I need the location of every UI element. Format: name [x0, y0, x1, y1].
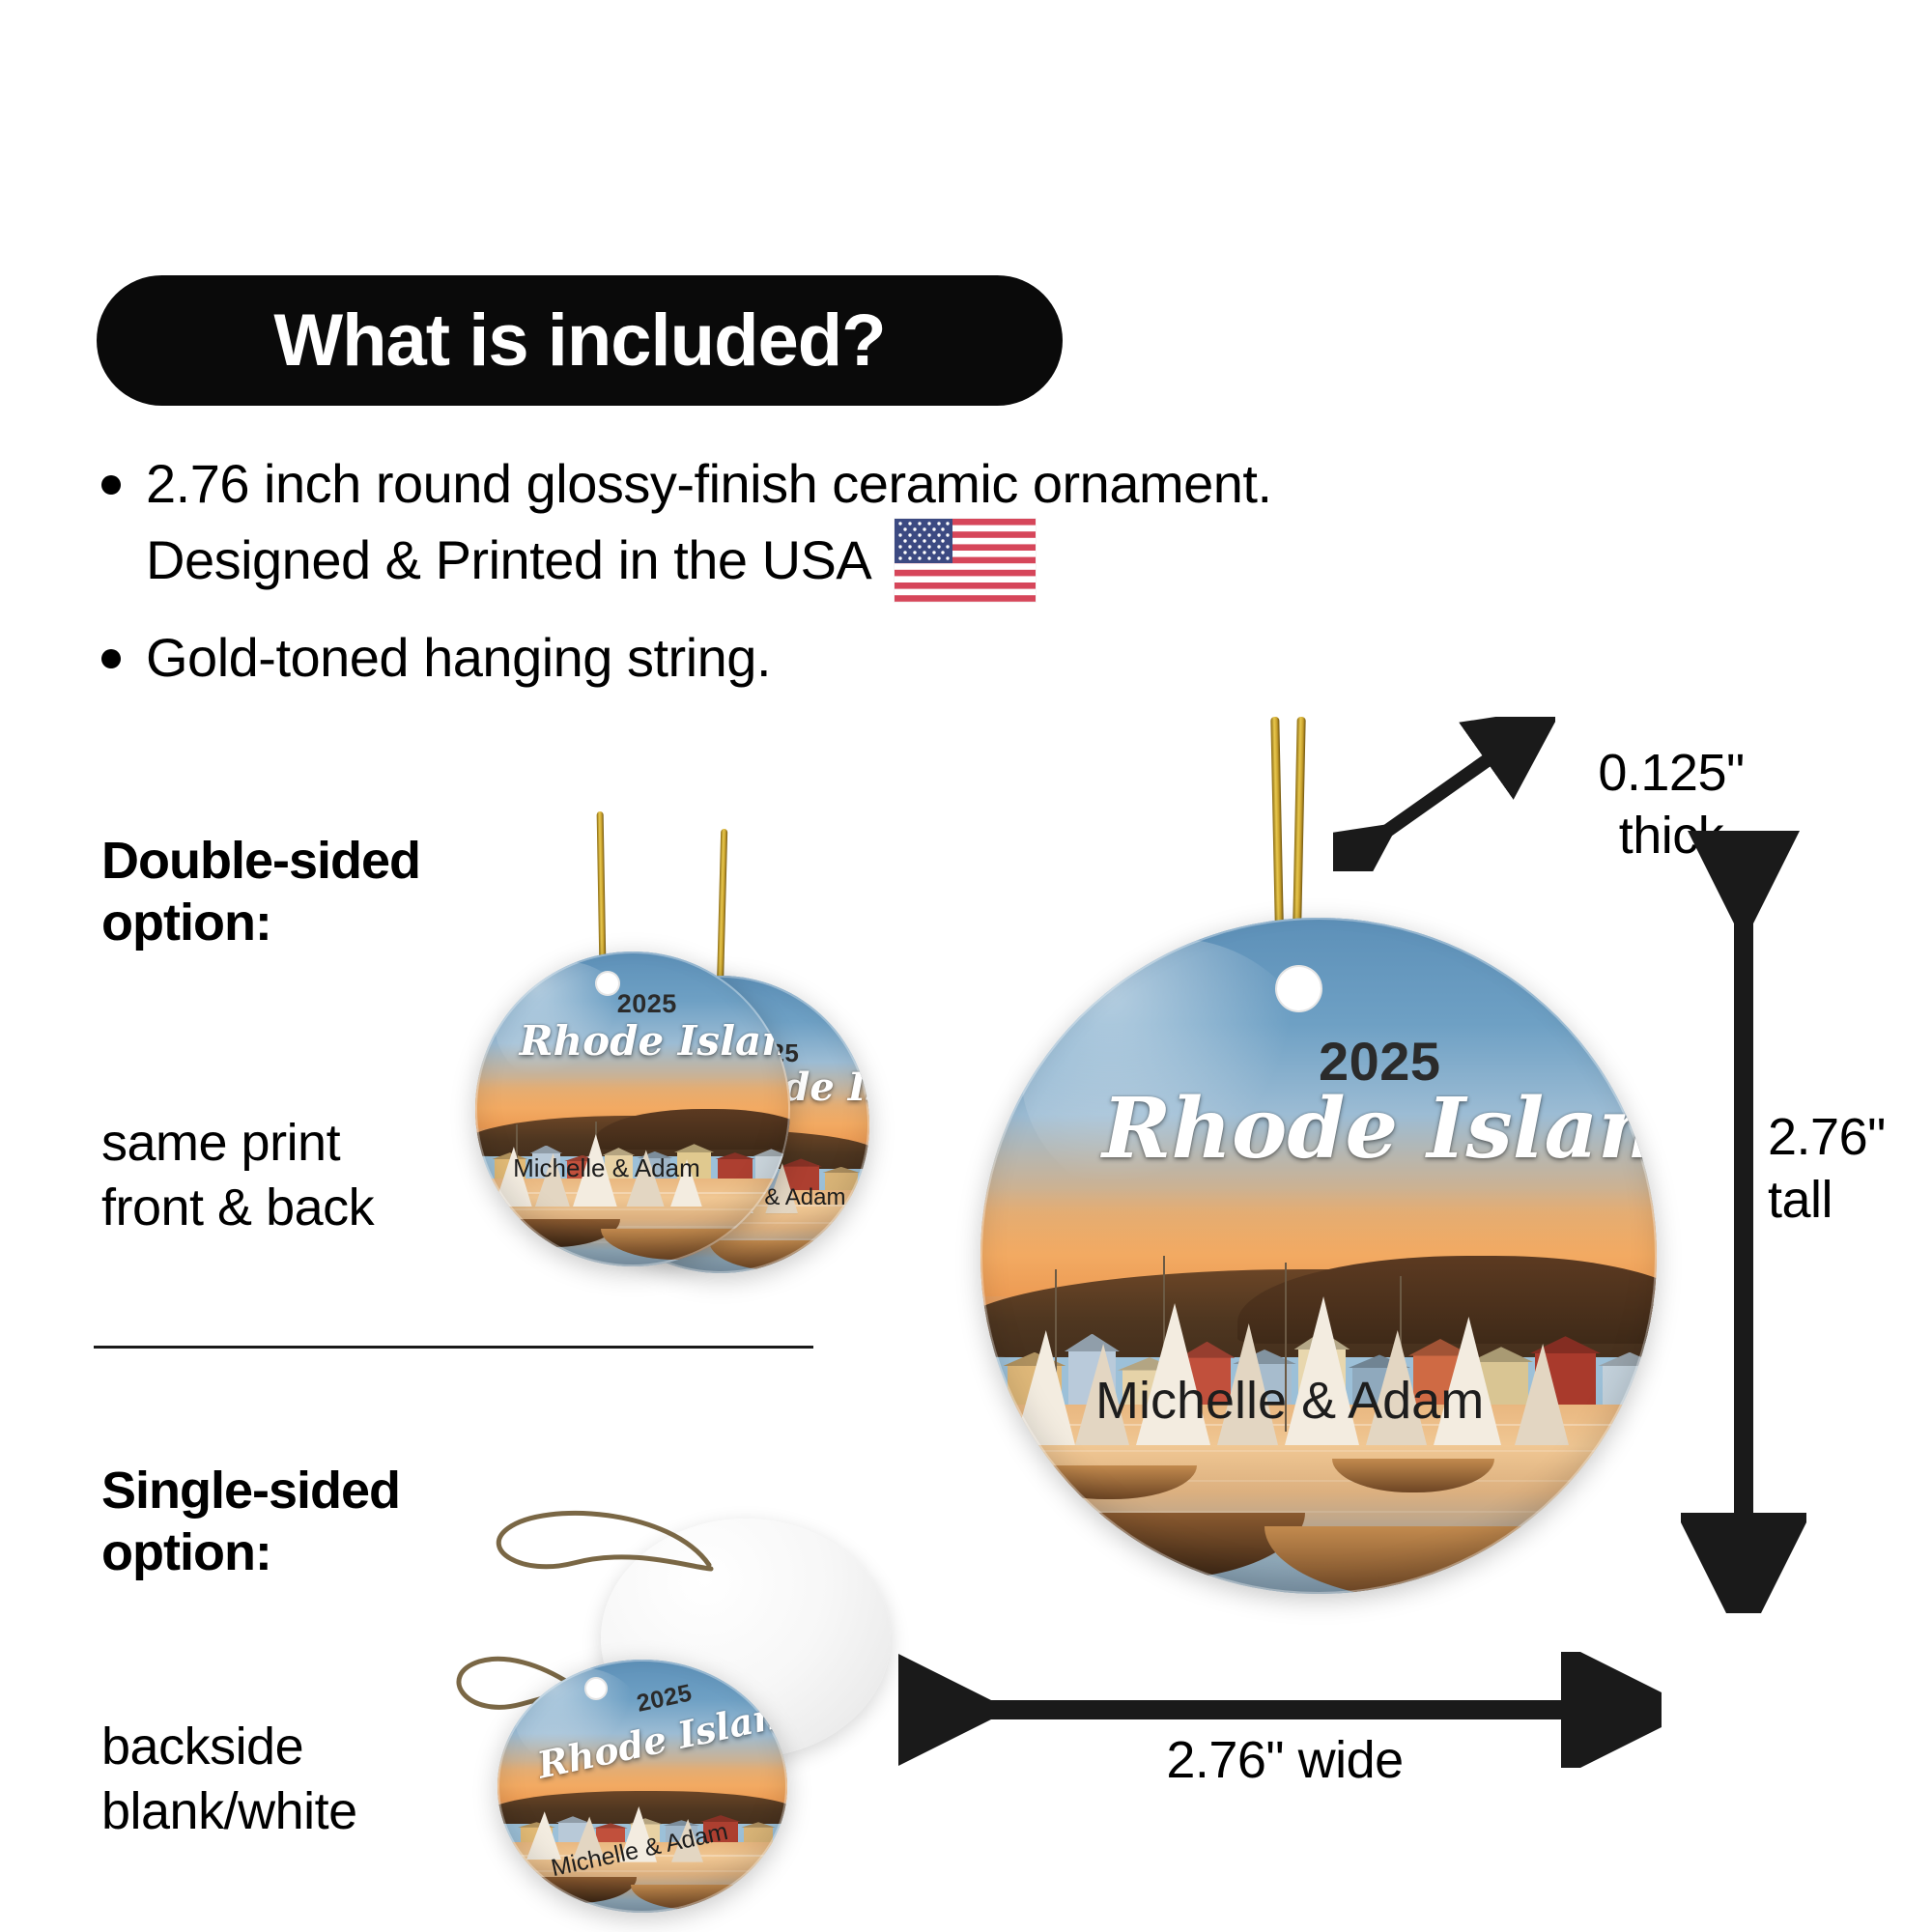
ornament-state: Rhode Island — [520, 1017, 790, 1065]
flag-svg — [895, 519, 1036, 602]
bullet-dot-icon — [101, 649, 121, 668]
hanging-hole — [584, 1677, 608, 1700]
bullet-line-1: 2.76 inch round glossy-finish ceramic or… — [146, 449, 1272, 519]
ornament-single-front: 2025 Rhode Island Michelle & Adam — [497, 1660, 787, 1913]
double-sided-heading: Double-sided option: — [101, 831, 604, 953]
ornament-names: Michelle & Adam — [513, 1153, 700, 1183]
bullet-text: 2.76 inch round glossy-finish ceramic or… — [146, 449, 1272, 602]
ornament-main: 2025 Rhode Island Michelle & Adam — [980, 918, 1657, 1594]
usa-flag-icon — [895, 519, 1036, 602]
hanging-hole — [1275, 965, 1322, 1012]
list-item: 2.76 inch round glossy-finish ceramic or… — [101, 449, 1802, 602]
bullet-text: Gold-toned hanging string. — [146, 623, 771, 693]
double-sided-heading-line1: Double-sided — [101, 831, 604, 893]
hanging-string-front — [597, 811, 607, 966]
thickness-label-line1: 0.125" — [1546, 742, 1797, 805]
included-bullet-list: 2.76 inch round glossy-finish ceramic or… — [101, 449, 1802, 699]
page-title: What is included? — [273, 304, 885, 378]
double-sided-note: same print front & back — [101, 1111, 517, 1240]
double-sided-note-line2: front & back — [101, 1176, 517, 1240]
ornament-state: Rhode Island — [1102, 1080, 1657, 1178]
ornament-names: Michelle & Adam — [1095, 1371, 1484, 1431]
double-sided-note-line1: same print — [101, 1111, 517, 1176]
section-divider — [94, 1346, 813, 1349]
thickness-arrow-icon — [1333, 717, 1555, 871]
double-sided-heading-line2: option: — [101, 893, 604, 954]
bullet-line-1: Gold-toned hanging string. — [146, 623, 771, 693]
height-label: 2.76" tall — [1768, 1106, 1932, 1232]
list-item: Gold-toned hanging string. — [101, 623, 1802, 693]
height-label-line1: 2.76" — [1768, 1106, 1932, 1169]
bullet-dot-icon — [101, 475, 121, 495]
flag-stripes — [895, 519, 1036, 602]
harbor-scene — [980, 918, 1657, 1594]
height-label-line2: tall — [1768, 1169, 1932, 1232]
ornament-year: 2025 — [617, 989, 677, 1019]
header-pill: What is included? — [97, 275, 1063, 406]
width-label: 2.76" wide — [985, 1729, 1584, 1792]
infographic-canvas: What is included? 2.76 inch round glossy… — [0, 0, 1932, 1932]
bullet-line-2: Designed & Printed in the USA — [146, 526, 871, 595]
ornament-double-front: 2025 Rhode Island Michelle & Adam — [475, 952, 790, 1266]
